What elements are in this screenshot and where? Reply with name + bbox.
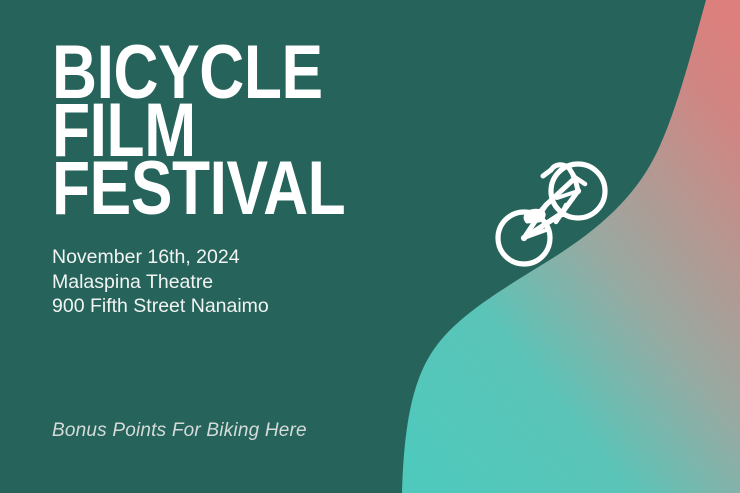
- tagline: Bonus Points For Biking Here: [52, 420, 307, 442]
- event-venue: Malaspina Theatre: [52, 270, 269, 295]
- poster-content: BICYCLE FILM FESTIVAL November 16th, 202…: [52, 0, 382, 493]
- poster-canvas: BICYCLE FILM FESTIVAL November 16th, 202…: [0, 0, 740, 493]
- event-date: November 16th, 2024: [52, 245, 269, 270]
- event-address: 900 Fifth Street Nanaimo: [52, 294, 269, 319]
- event-details: November 16th, 2024 Malaspina Theatre 90…: [52, 245, 269, 319]
- title-line-3: FESTIVAL: [52, 160, 345, 218]
- page-title: BICYCLE FILM FESTIVAL: [52, 44, 410, 218]
